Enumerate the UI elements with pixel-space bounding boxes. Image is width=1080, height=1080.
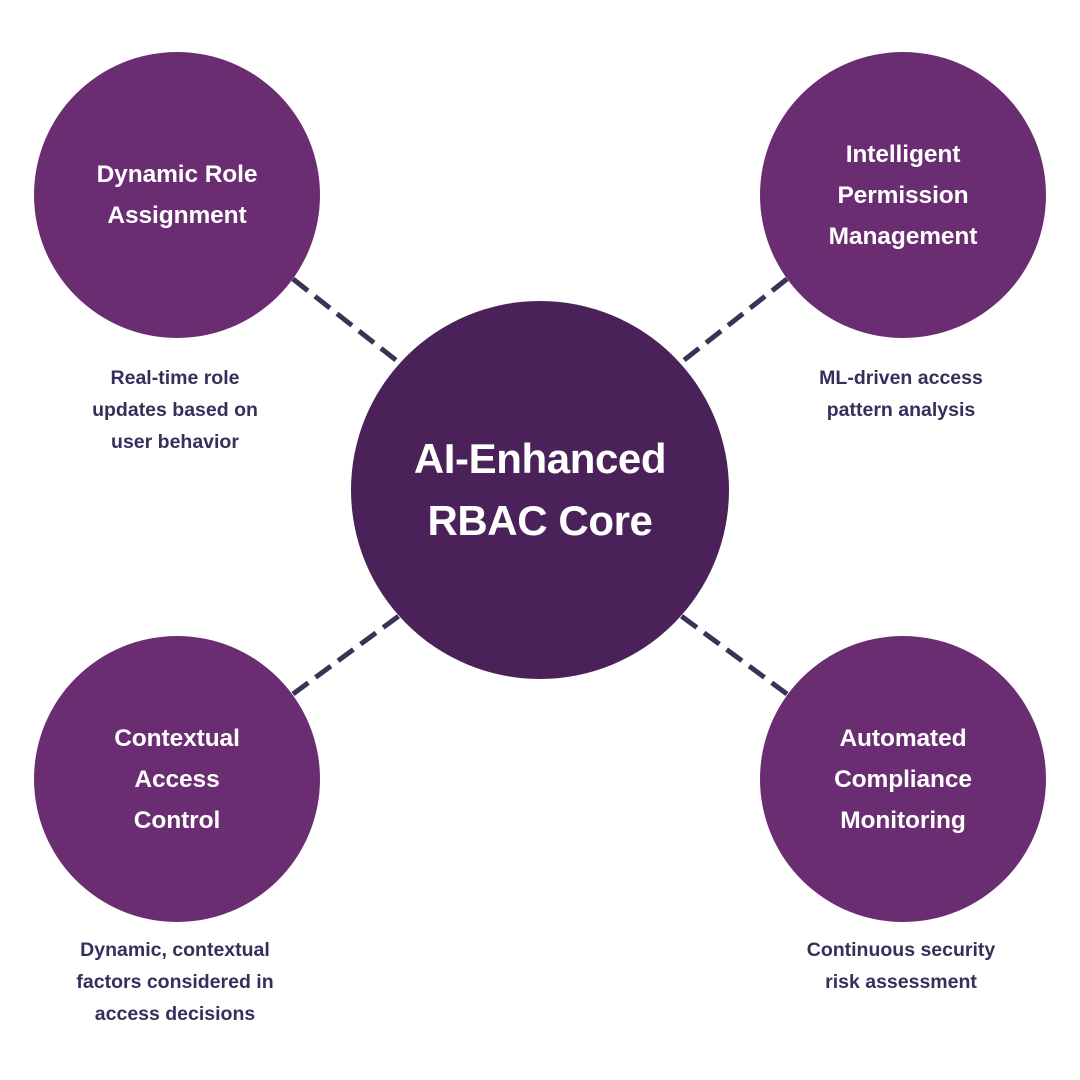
node-label-contextual-access-control: Contextual Access Control (114, 718, 240, 841)
node-dynamic-role-assignment[interactable]: Dynamic Role Assignment (34, 52, 320, 338)
node-label-intelligent-permission-management: Intelligent Permission Management (829, 134, 978, 257)
node-ai-enhanced-rbac-core[interactable]: AI-Enhanced RBAC Core (351, 301, 729, 679)
diagram-canvas: Dynamic Role Assignment Real-time role u… (0, 0, 1080, 1080)
node-contextual-access-control[interactable]: Contextual Access Control (34, 636, 320, 922)
caption-contextual-access-control: Dynamic, contextual factors considered i… (25, 934, 325, 1030)
node-automated-compliance-monitoring[interactable]: Automated Compliance Monitoring (760, 636, 1046, 922)
node-label-ai-enhanced-rbac-core: AI-Enhanced RBAC Core (414, 428, 666, 552)
node-label-automated-compliance-monitoring: Automated Compliance Monitoring (834, 718, 972, 841)
caption-automated-compliance-monitoring: Continuous security risk assessment (751, 934, 1051, 998)
connector-core-to-top-left (293, 279, 411, 372)
caption-intelligent-permission-management: ML-driven access pattern analysis (751, 362, 1051, 426)
node-label-dynamic-role-assignment: Dynamic Role Assignment (97, 154, 258, 236)
connector-core-to-bottom-right (669, 607, 787, 694)
caption-dynamic-role-assignment: Real-time role updates based on user beh… (25, 362, 325, 458)
connector-core-to-bottom-left (293, 607, 411, 694)
connector-core-to-top-right (669, 279, 787, 372)
node-intelligent-permission-management[interactable]: Intelligent Permission Management (760, 52, 1046, 338)
